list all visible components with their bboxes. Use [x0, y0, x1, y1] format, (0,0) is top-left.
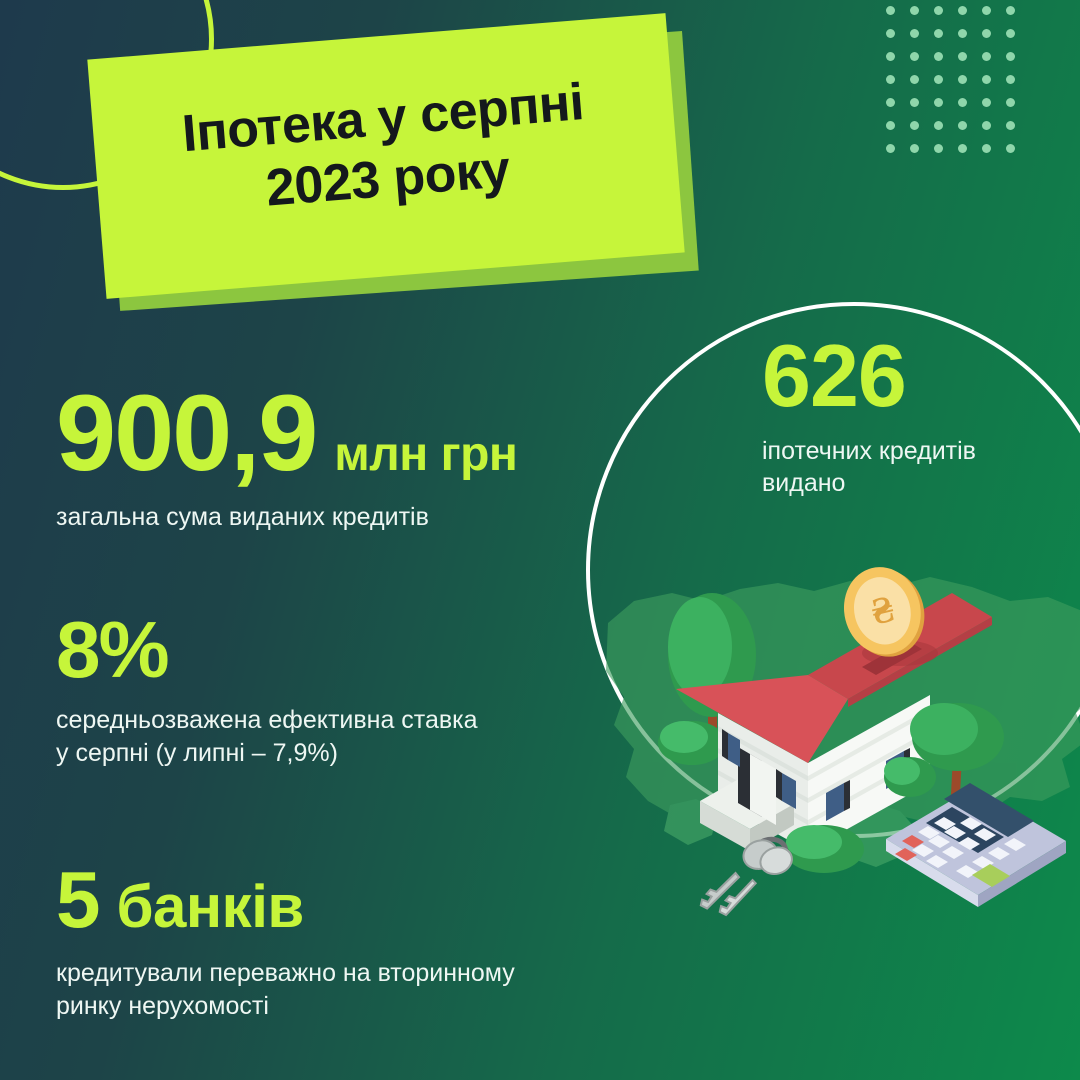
stat-total-amount-row: 900,9 млн грн	[56, 382, 517, 485]
stat-banks-count-row: 5 банків	[56, 862, 515, 941]
page-title: Іпотека у серпні 2023 року	[180, 72, 592, 241]
infographic-poster: Іпотека у серпні 2023 року 626 іпотечних…	[0, 0, 1080, 1080]
title-banner-surface: Іпотека у серпні 2023 року	[87, 13, 684, 299]
stat-banks-count-unit: банків	[117, 872, 304, 941]
bush-icon	[784, 825, 864, 873]
stat-banks-count-value: 5	[56, 862, 99, 938]
stat-banks-count-caption: кредитували переважно на вторинному ринк…	[56, 957, 515, 1023]
bush-icon	[658, 721, 726, 765]
title-banner: Іпотека у серпні 2023 року	[96, 36, 676, 276]
isometric-house-illustration: ₴	[600, 505, 1080, 925]
stat-average-rate-row: 8%	[56, 612, 478, 688]
stat-average-rate-caption: середньозважена ефективна ставка у серпн…	[56, 704, 478, 770]
stat-average-rate: 8% середньозважена ефективна ставка у се…	[56, 612, 478, 770]
stat-banks-count: 5 банків кредитували переважно на вторин…	[56, 862, 515, 1023]
stat-total-amount-caption: загальна сума виданих кредитів	[56, 501, 517, 534]
stat-total-amount: 900,9 млн грн загальна сума виданих кред…	[56, 382, 517, 534]
bush-icon	[884, 757, 936, 797]
stat-loans-issued: 626 іпотечних кредитів видано	[762, 336, 1062, 500]
stat-average-rate-value: 8%	[56, 612, 168, 688]
stat-loans-issued-value: 626	[762, 336, 1062, 417]
dot-grid-pattern	[886, 6, 1030, 167]
stat-total-amount-unit: млн грн	[334, 427, 517, 482]
stat-loans-issued-caption: іпотечних кредитів видано	[762, 435, 1062, 500]
stat-total-amount-value: 900,9	[56, 382, 316, 485]
